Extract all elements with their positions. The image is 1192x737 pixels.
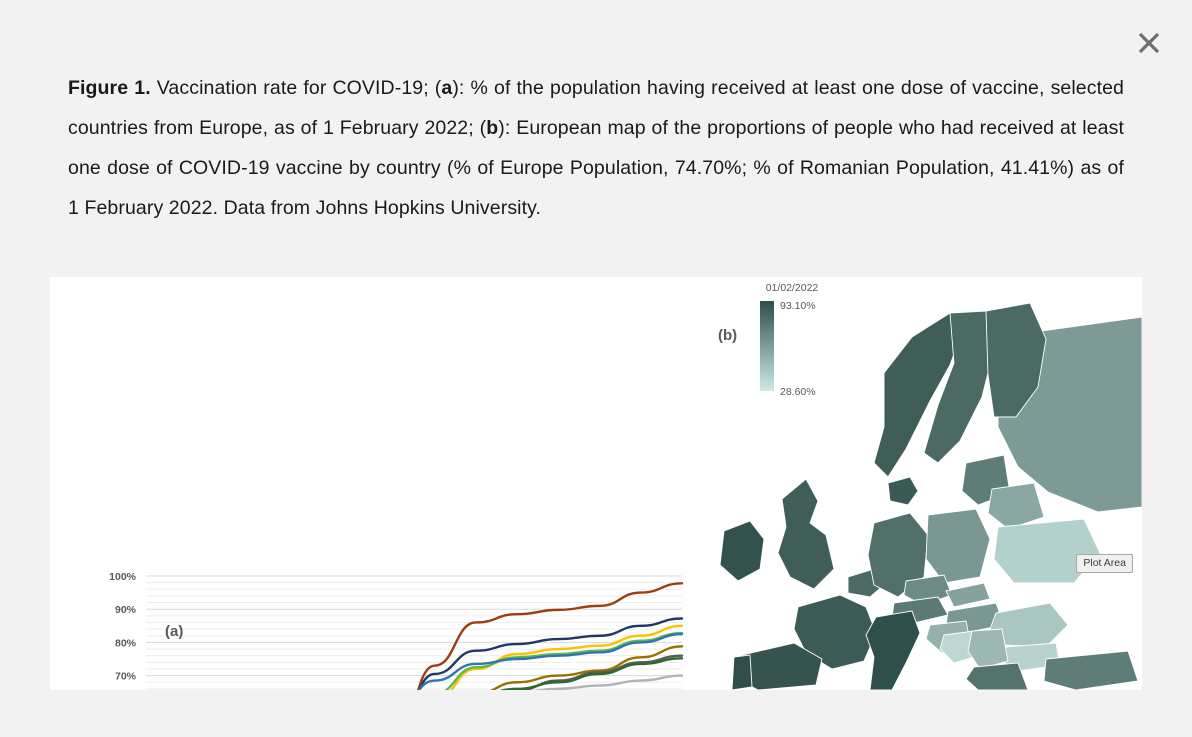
plot-area-label: Plot Area [1076, 554, 1133, 573]
map-region-italy [866, 611, 920, 690]
y-tick-label: 90% [115, 604, 137, 616]
map-region-ukraine [994, 519, 1100, 583]
colorbar-max-label: 93.10% [780, 300, 816, 312]
caption-label-b: b [486, 117, 498, 139]
map-region-ireland [720, 521, 764, 581]
chart-panel-a: 0%10%20%30%40%50%60%70%80%90%100% 01/01/… [50, 277, 698, 690]
map-region-portugal [732, 655, 752, 690]
europe-choropleth-map: 01/02/2022 93.10% 28.60% (b) [698, 277, 1142, 690]
map-region-slovakia [946, 583, 990, 607]
caption-label-a: a [441, 77, 452, 99]
map-region-serbia [968, 629, 1008, 669]
series-line-hungary [146, 676, 682, 690]
colorbar-min-label: 28.60% [780, 386, 816, 398]
vaccination-line-chart: 0%10%20%30%40%50%60%70%80%90%100% 01/01/… [50, 277, 698, 690]
panel-b-tag: (b) [718, 327, 737, 344]
map-colorbar: 01/02/2022 93.10% 28.60% [760, 282, 818, 398]
map-region-denmark [888, 477, 918, 505]
figure-panel: 0%10%20%30%40%50%60%70%80%90%100% 01/01/… [50, 277, 1142, 690]
close-icon [1136, 30, 1162, 56]
y-tick-label: 70% [115, 671, 137, 683]
colorbar-gradient [760, 301, 774, 391]
map-country-shapes [720, 303, 1142, 690]
caption-segment-1: Vaccination rate for COVID-19; ( [151, 77, 442, 99]
figure-caption: Figure 1. Vaccination rate for COVID-19;… [68, 68, 1124, 228]
y-tick-label: 100% [109, 571, 137, 583]
map-region-poland [926, 509, 990, 583]
map-region-uk [778, 479, 834, 589]
close-button[interactable] [1132, 26, 1166, 60]
y-axis-tick-labels: 0%10%20%30%40%50%60%70%80%90%100% [109, 571, 137, 690]
map-region-belarus [988, 483, 1044, 529]
colorbar-title: 01/02/2022 [766, 282, 819, 294]
series-line-france [146, 633, 682, 690]
series-lines [146, 583, 682, 690]
map-region-greece [966, 663, 1028, 690]
figure-number: Figure 1. [68, 77, 151, 99]
y-tick-label: 80% [115, 637, 137, 649]
panel-a-tag: (a) [165, 623, 183, 640]
map-panel-b: 01/02/2022 93.10% 28.60% (b) Plot Area [698, 277, 1142, 690]
